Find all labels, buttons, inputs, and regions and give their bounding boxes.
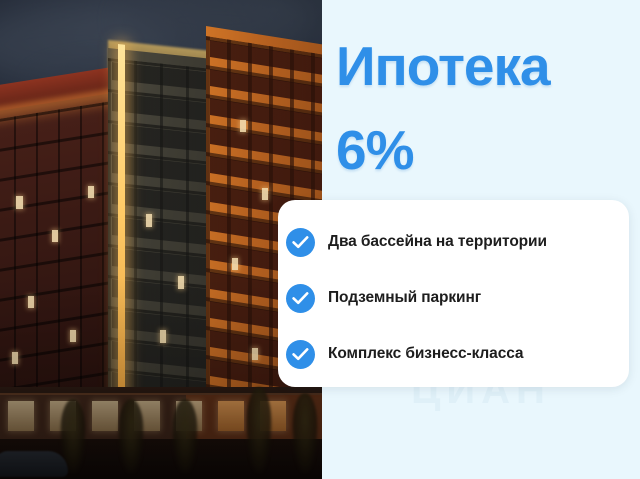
lit-window [160, 330, 166, 343]
check-circle-icon [286, 284, 315, 313]
lit-window [262, 188, 268, 200]
lit-window [16, 196, 23, 209]
promo-banner: Ипотека 6% ЦИАН Два бассейна на территор… [0, 0, 640, 479]
list-item: Комплекс бизнесс-класса [278, 326, 629, 382]
headline-text: Ипотека [336, 35, 550, 97]
lit-window [240, 120, 246, 132]
check-circle-icon [286, 228, 315, 257]
lit-window [28, 296, 34, 308]
parked-car [0, 451, 68, 477]
feature-label: Комплекс бизнесс-класса [328, 345, 523, 363]
lit-window [12, 352, 18, 364]
lit-window [88, 186, 94, 198]
storefront-window [8, 401, 34, 431]
lit-window [146, 214, 152, 227]
lit-window [70, 330, 76, 342]
storefront-window [92, 401, 118, 431]
page-title: Ипотека 6% [336, 38, 636, 178]
tree [172, 399, 198, 473]
list-item: Два бассейна на территории [278, 214, 629, 270]
mortgage-rate: 6% [336, 122, 636, 178]
tree [246, 387, 272, 473]
tree [118, 399, 144, 473]
building-photo [0, 0, 322, 479]
lit-window [178, 276, 184, 289]
feature-list: Два бассейна на территории Подземный пар… [278, 200, 629, 382]
storefront-window [218, 401, 244, 431]
feature-label: Подземный паркинг [328, 289, 481, 307]
list-item: Подземный паркинг [278, 270, 629, 326]
features-card: Два бассейна на территории Подземный пар… [278, 200, 629, 387]
check-circle-icon [286, 340, 315, 369]
lit-window [252, 348, 258, 360]
tree [292, 393, 318, 473]
lit-window [52, 230, 58, 242]
feature-label: Два бассейна на территории [328, 233, 547, 251]
lit-window [232, 258, 238, 270]
